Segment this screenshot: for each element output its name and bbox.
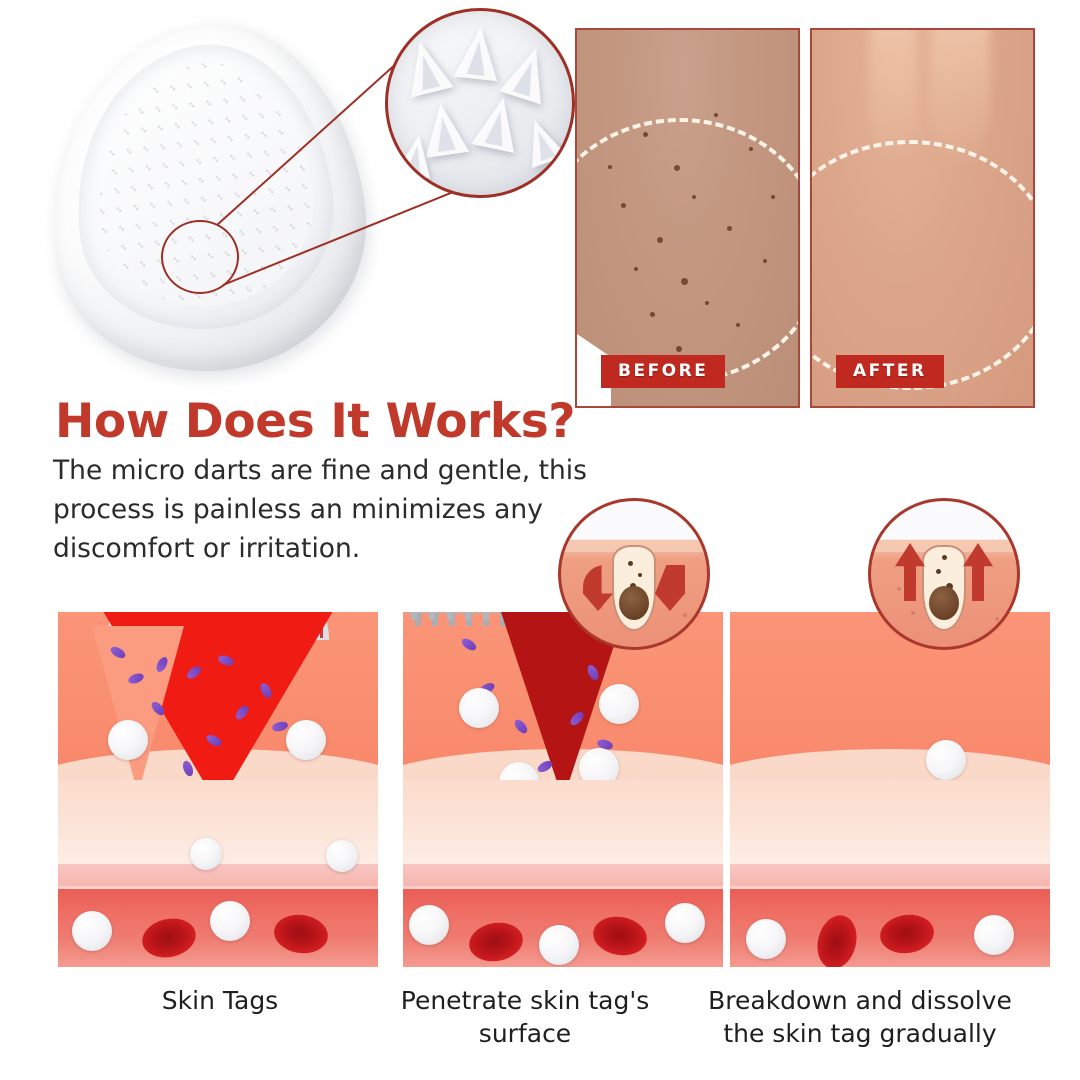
red-blood-cell: [466, 919, 526, 966]
red-blood-cell: [139, 914, 200, 962]
step-1-caption: Skin Tags: [110, 985, 330, 1018]
pore-debris-plug: [619, 586, 649, 620]
after-badge: AFTER: [836, 355, 944, 388]
red-blood-cell: [812, 911, 862, 967]
white-blood-cell: [210, 901, 250, 941]
white-blood-cell: [599, 684, 639, 724]
infographic-page: BEFORE AFTER How Does It Works? The micr…: [0, 0, 1080, 1080]
dermis-layer: [403, 780, 723, 868]
white-blood-cell: [286, 720, 326, 760]
step-3-caption: Breakdown and dissolve the skin tag grad…: [695, 985, 1025, 1050]
pore-debris-plug: [929, 586, 959, 620]
microdart-needle-icon: [471, 93, 525, 153]
white-blood-cell: [746, 919, 786, 959]
process-diagram: [58, 612, 1038, 967]
white-blood-cell: [459, 688, 499, 728]
dermis-layer: [730, 780, 1050, 868]
microdart-needle-icon: [453, 25, 502, 81]
pore-cavity: [922, 545, 966, 631]
arrow-down-left-icon: [583, 565, 613, 611]
magnifier-circle: [385, 8, 575, 198]
white-blood-cell: [926, 740, 966, 780]
microdart-needle-icon: [398, 36, 453, 97]
page-title: How Does It Works?: [55, 394, 675, 449]
step-3-illustration: [730, 612, 1050, 967]
white-blood-cell: [409, 905, 449, 945]
white-blood-cell: [326, 840, 358, 872]
blood-vessel: [58, 886, 378, 967]
red-blood-cell: [590, 913, 650, 960]
arrow-down-right-icon: [655, 565, 685, 611]
microdart-needle-icon: [499, 41, 557, 104]
white-blood-cell: [190, 838, 222, 870]
pore-dissolve-inset: [868, 498, 1020, 650]
white-blood-cell: [108, 720, 148, 760]
step-captions: Skin Tags Penetrate skin tag's surface B…: [40, 985, 1050, 1065]
before-badge: BEFORE: [601, 355, 725, 388]
red-blood-cell: [272, 911, 331, 956]
pore-cavity: [612, 545, 656, 631]
blood-vessel: [730, 886, 1050, 967]
white-blood-cell: [974, 915, 1014, 955]
dashed-oval-marker: [810, 140, 1035, 390]
microdart-needle-icon: [395, 132, 436, 179]
white-blood-cell: [665, 903, 705, 943]
product-device-illustration: [45, 12, 390, 392]
microdart-needle-icon: [517, 114, 567, 168]
after-photo: AFTER: [810, 28, 1035, 408]
step-1-illustration: [58, 612, 378, 967]
skin-tag-fold: [92, 626, 184, 794]
before-photo: BEFORE: [575, 28, 800, 408]
step-2-caption: Penetrate skin tag's surface: [380, 985, 670, 1050]
before-after-comparison: BEFORE AFTER: [575, 28, 1035, 408]
white-blood-cell: [72, 911, 112, 951]
red-blood-cell: [878, 911, 937, 956]
dashed-oval-marker: [575, 118, 800, 383]
epidermis-layer: [730, 612, 1050, 787]
step-2-illustration: [403, 612, 723, 967]
description-text: The micro darts are fine and gentle, thi…: [53, 452, 598, 569]
white-blood-cell: [539, 925, 579, 965]
pore-absorb-inset: [558, 498, 710, 650]
blood-vessel: [403, 886, 723, 967]
